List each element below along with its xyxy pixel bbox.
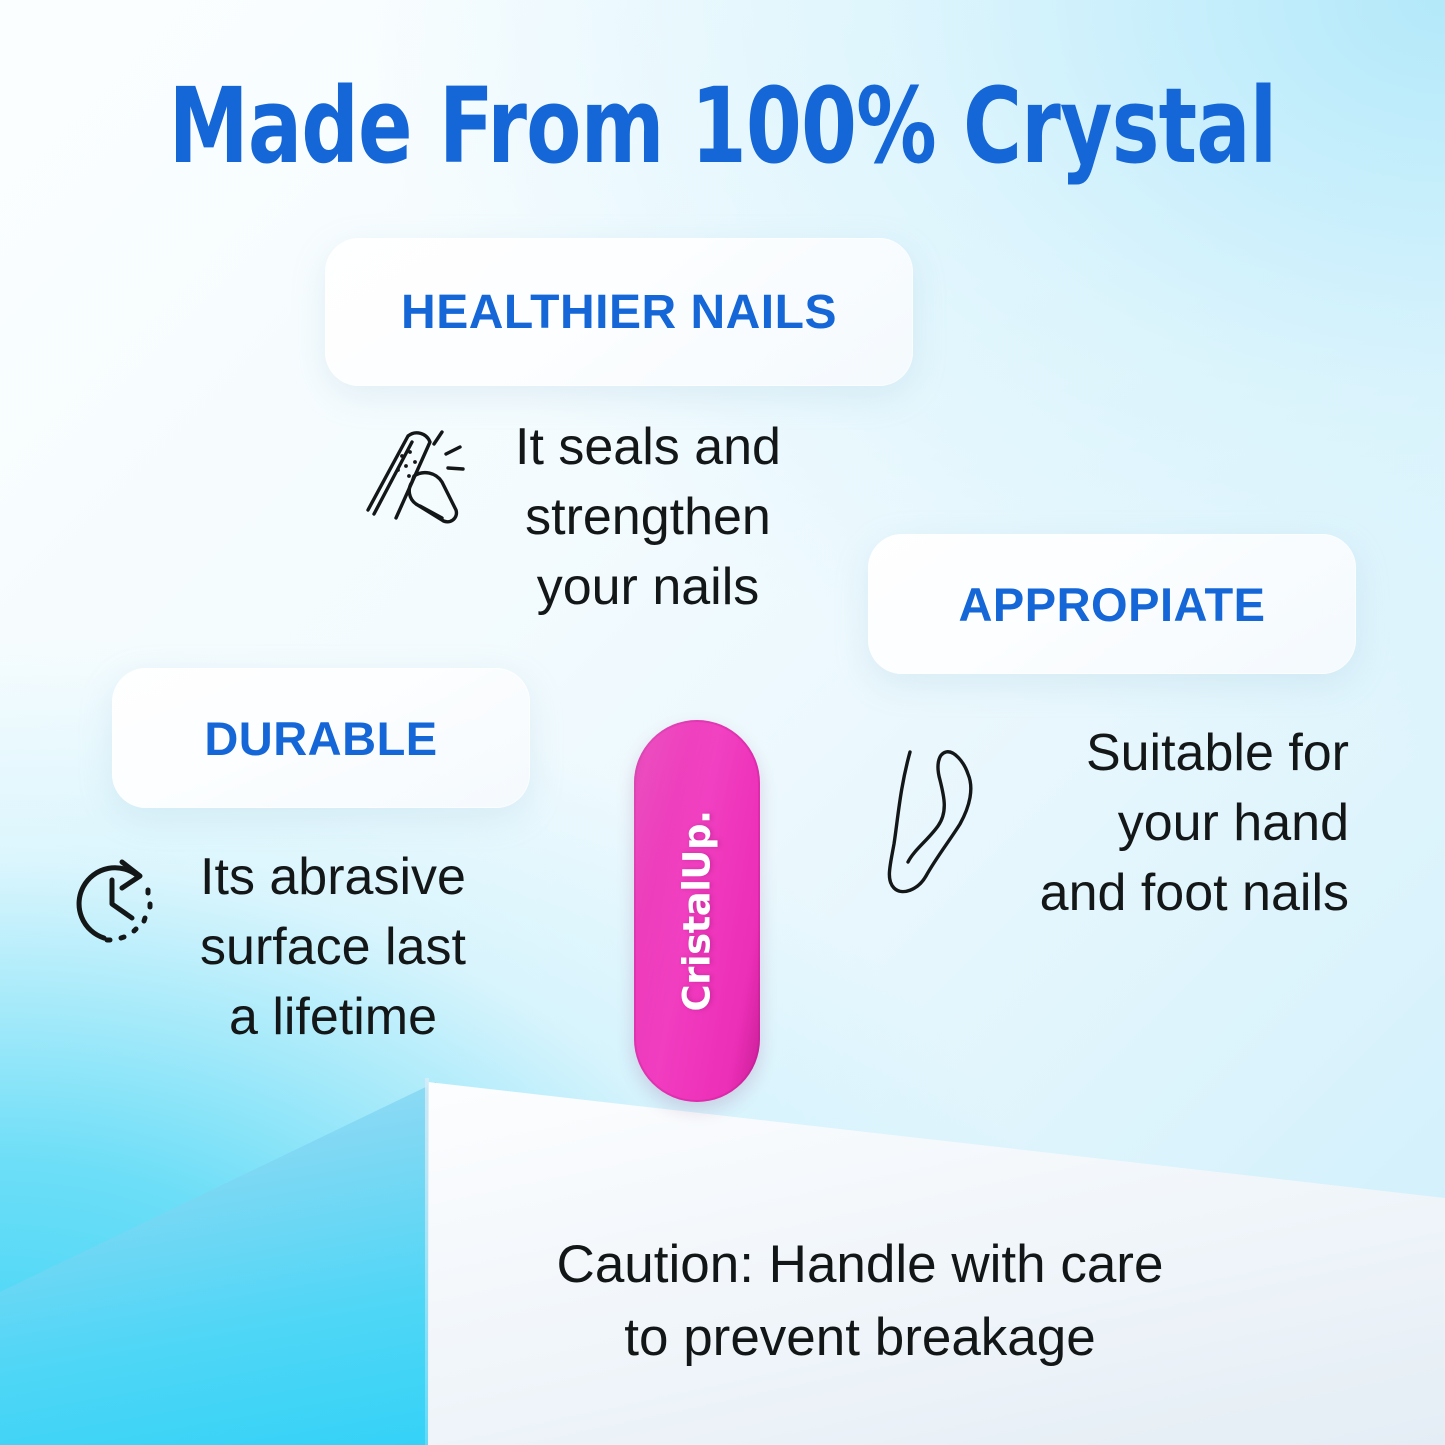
feature-seals-line2: strengthen [525,488,771,546]
badge-appropiate-label: APPROPIATE [958,577,1265,632]
badge-durable-label: DURABLE [204,711,437,766]
clock-history-icon [60,850,164,954]
feature-seals-line1: It seals and [515,418,781,476]
feature-hand-foot: Suitable for your hand and foot nails [880,718,1350,928]
badge-durable: DURABLE [112,668,530,808]
infographic-canvas: Made From 100% Crystal HEALTHIER NAILS A… [0,0,1445,1445]
feature-seals-text: It seals and strengthen your nails [488,412,808,622]
badge-appropiate: APPROPIATE [868,534,1356,674]
pedestal-corner-edge [425,1078,429,1445]
feature-lifetime: Its abrasive surface last a lifetime [60,842,490,1052]
feature-seals-line3: your nails [537,558,760,616]
feature-seals-strengthen: It seals and strengthen your nails [362,412,812,622]
feature-hand-foot-line3: and foot nails [1040,864,1349,922]
foot-icon [880,740,990,905]
product-brand-logo: CristalUp. [676,810,719,1011]
badge-healthier-nails: HEALTHIER NAILS [325,238,913,386]
badge-healthier-nails-label: HEALTHIER NAILS [401,285,837,340]
feature-lifetime-line1: Its abrasive [200,848,466,906]
caution-line1: Caution: Handle with care [430,1228,1290,1301]
feature-hand-foot-text: Suitable for your hand and foot nails [1004,718,1349,928]
pedestal-left-face [0,1060,436,1445]
page-title: Made From 100% Crystal [101,74,1344,178]
page-title-part1: Made From [169,65,691,187]
feature-lifetime-line2: surface last [200,918,466,976]
product-nail-file: CristalUp. [634,720,760,1102]
caution-line2: to prevent breakage [430,1301,1290,1374]
feature-lifetime-line3: a lifetime [229,988,437,1046]
feature-lifetime-text: Its abrasive surface last a lifetime [176,842,490,1052]
page-title-part2: 100% Crystal [691,65,1277,187]
nail-file-icon [362,422,472,532]
feature-hand-foot-line1: Suitable for [1086,724,1349,782]
caution-note: Caution: Handle with care to prevent bre… [430,1228,1290,1374]
feature-hand-foot-line2: your hand [1118,794,1349,852]
